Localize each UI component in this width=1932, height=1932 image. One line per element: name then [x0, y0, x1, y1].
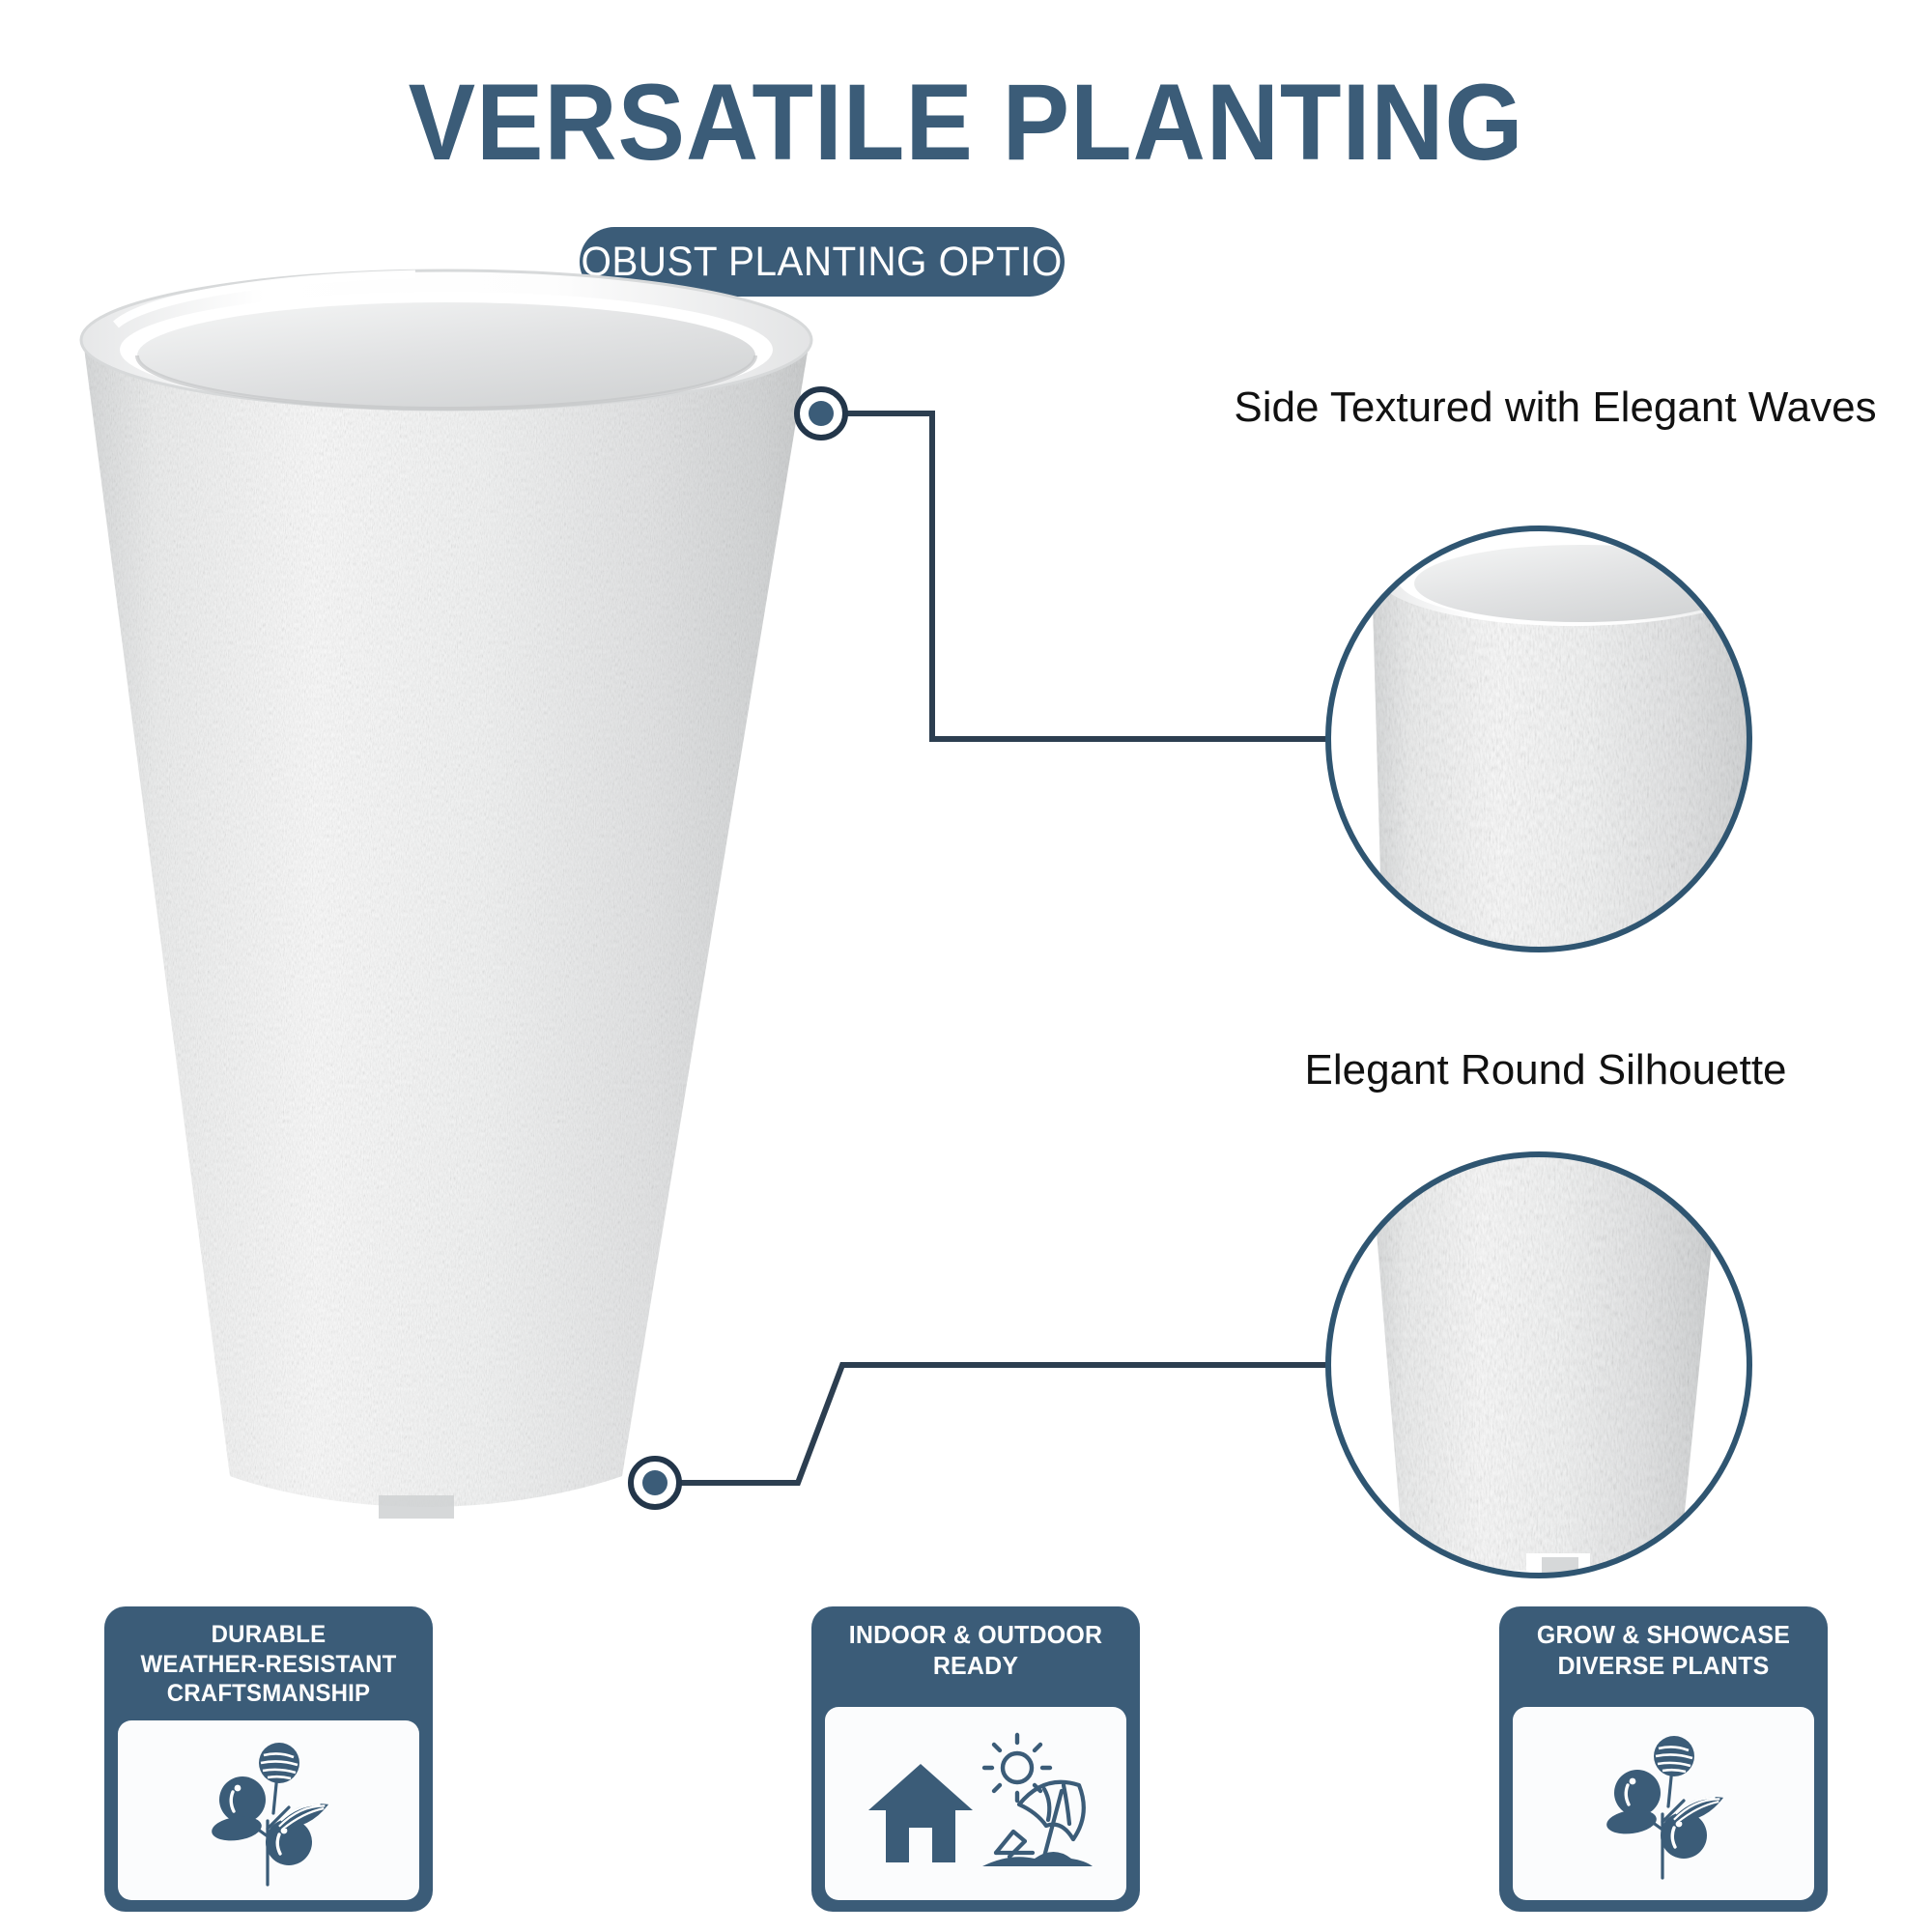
feature-badge-title: DURABLE WEATHER-RESISTANT CRAFTSMANSHIP [120, 1620, 416, 1709]
beach-umbrella-icon [982, 1782, 1093, 1866]
callout-marker-top[interactable] [797, 389, 845, 438]
feature-badge-durable[interactable]: DURABLE WEATHER-RESISTANT CRAFTSMANSHIP [104, 1606, 433, 1912]
callout-caption-round-silhouette: Elegant Round Silhouette [1207, 1041, 1884, 1098]
feature-badge-title: INDOOR & OUTDOOR READY [827, 1620, 1123, 1681]
callout-caption-side-texture: Side Textured with Elegant Waves [1227, 379, 1884, 436]
house-icon [868, 1764, 973, 1862]
feature-badge-art [825, 1707, 1126, 1900]
callout-marker-bottom[interactable] [631, 1459, 679, 1507]
sun-icon [984, 1735, 1050, 1801]
feature-badge-indoor-outdoor[interactable]: INDOOR & OUTDOOR READY [811, 1606, 1140, 1912]
feature-badge-row: DURABLE WEATHER-RESISTANT CRAFTSMANSHIP [0, 1606, 1932, 1925]
berry-sprig-icon [196, 1728, 341, 1892]
berry-sprig-icon [1591, 1721, 1736, 1886]
feature-badge-grow-showcase[interactable]: GROW & SHOWCASE DIVERSE PLANTS [1499, 1606, 1828, 1912]
detail-circle-round-silhouette [1328, 1150, 1749, 1577]
infographic-canvas: VERSATILE PLANTING ROBUST PLANTING OPTIO… [0, 0, 1932, 1932]
feature-badge-art [118, 1720, 419, 1900]
detail-circle-side-texture [1328, 518, 1772, 997]
feature-badge-title: GROW & SHOWCASE DIVERSE PLANTS [1515, 1620, 1811, 1681]
planter-main-image [81, 270, 811, 1519]
house-sun-umbrella-icon [855, 1731, 1096, 1876]
callout-connector-top [833, 413, 1330, 739]
callout-connector-bottom [667, 1365, 1330, 1483]
feature-badge-art [1513, 1707, 1814, 1900]
